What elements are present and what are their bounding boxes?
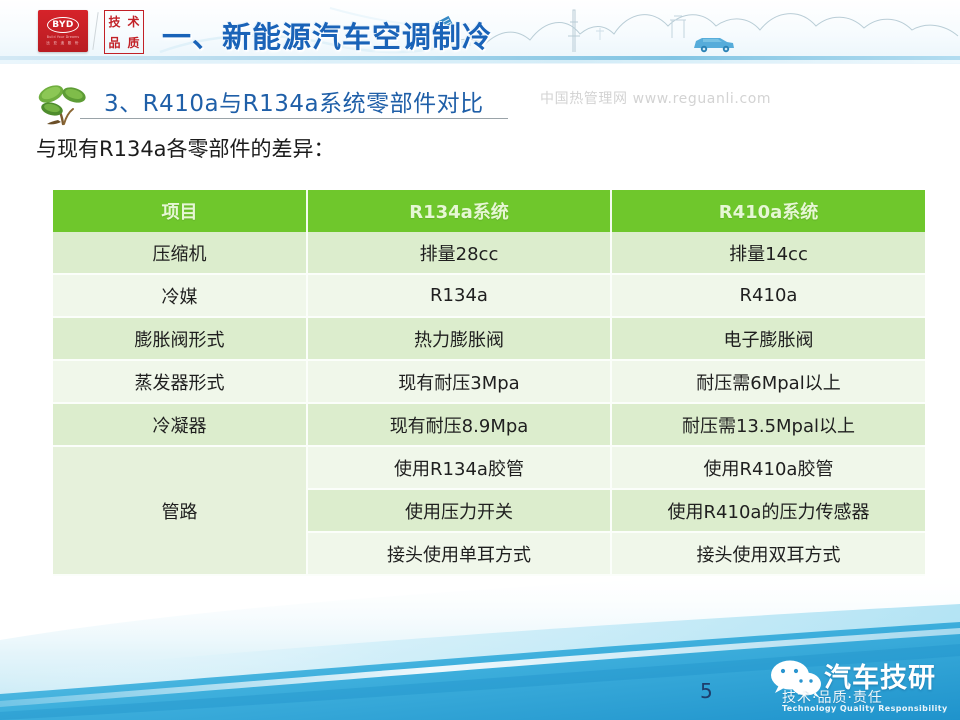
row-value-r134a: 使用压力开关	[308, 490, 612, 533]
row-value-r410a: 使用R410a胶管	[612, 447, 925, 490]
site-watermark: 中国热管理网 www.reguanli.com	[540, 88, 771, 108]
table-row: 膨胀阀形式 热力膨胀阀 电子膨胀阀	[53, 318, 925, 361]
row-value-r410a: 电子膨胀阀	[612, 318, 925, 361]
column-header-r134a: R134a系统	[308, 190, 612, 232]
seal-char-3: 品	[108, 37, 120, 49]
byd-logo-chinese-subtitle: 比 亚 迪 股 份	[46, 41, 79, 46]
page-number: 5	[700, 679, 713, 703]
table-row: 蒸发器形式 现有耐压3Mpa 耐压需6Mpal以上	[53, 361, 925, 404]
footer-brand-logo: 汽车技研 技术·品质·责任 Technology Quality Respons…	[768, 656, 948, 714]
column-header-r410a: R410a系统	[612, 190, 925, 232]
row-label: 蒸发器形式	[53, 361, 308, 404]
slide-canvas: BYD Build Your Dreams 比 亚 迪 股 份 技 术 品 质 …	[0, 0, 960, 720]
table-row: 冷媒 R134a R410a	[53, 275, 925, 318]
row-value-r134a: 现有耐压3Mpa	[308, 361, 612, 404]
subsection-underline	[80, 118, 508, 119]
row-value-r134a: 现有耐压8.9Mpa	[308, 404, 612, 447]
row-value-r410a: 耐压需13.5Mpal以上	[612, 404, 925, 447]
row-label-merged: 管路	[53, 447, 308, 576]
row-value-r410a: R410a	[612, 275, 925, 318]
row-value-r410a: 使用R410a的压力传感器	[612, 490, 925, 533]
intro-text: 与现有R134a各零部件的差异：	[36, 133, 335, 163]
slide-section-title: 一、新能源汽车空调制冷	[162, 14, 492, 56]
row-value-r134a: 热力膨胀阀	[308, 318, 612, 361]
row-value-r134a: 排量28cc	[308, 232, 612, 275]
seal-char-4: 质	[127, 37, 139, 49]
row-value-r134a: R134a	[308, 275, 612, 318]
table-row: 压缩机 排量28cc 排量14cc	[53, 232, 925, 275]
subsection-heading: 3、R410a与R134a系统零部件对比	[104, 84, 484, 118]
row-label: 压缩机	[53, 232, 308, 275]
row-value-r134a: 使用R134a胶管	[308, 447, 612, 490]
quality-seal-stamp: 技 术 品 质	[104, 10, 144, 54]
components-comparison-table: 项目 R134a系统 R410a系统 压缩机 排量28cc 排量14cc 冷媒 …	[53, 190, 925, 576]
sprout-leaf-icon	[36, 80, 94, 126]
row-value-r410a: 耐压需6Mpal以上	[612, 361, 925, 404]
row-value-r410a: 排量14cc	[612, 232, 925, 275]
row-label: 冷媒	[53, 275, 308, 318]
row-label: 冷凝器	[53, 404, 308, 447]
byd-logo: BYD Build Your Dreams 比 亚 迪 股 份	[38, 10, 88, 52]
seal-char-2: 术	[127, 16, 139, 28]
table-row: 冷凝器 现有耐压8.9Mpa 耐压需13.5Mpal以上	[53, 404, 925, 447]
byd-logo-text: BYD	[47, 17, 79, 33]
byd-logo-english-subtitle: Build Your Dreams	[47, 35, 80, 39]
seal-char-1: 技	[108, 16, 120, 28]
table-row: 管路 使用R134a胶管 使用R410a胶管	[53, 447, 925, 490]
brand-slogan-english: Technology Quality Responsibility	[782, 704, 948, 713]
table-header-row: 项目 R134a系统 R410a系统	[53, 190, 925, 232]
row-label: 膨胀阀形式	[53, 318, 308, 361]
banner-divider-line-secondary	[0, 60, 960, 63]
header-banner: BYD Build Your Dreams 比 亚 迪 股 份 技 术 品 质 …	[0, 0, 960, 64]
column-header-item: 项目	[53, 190, 308, 232]
